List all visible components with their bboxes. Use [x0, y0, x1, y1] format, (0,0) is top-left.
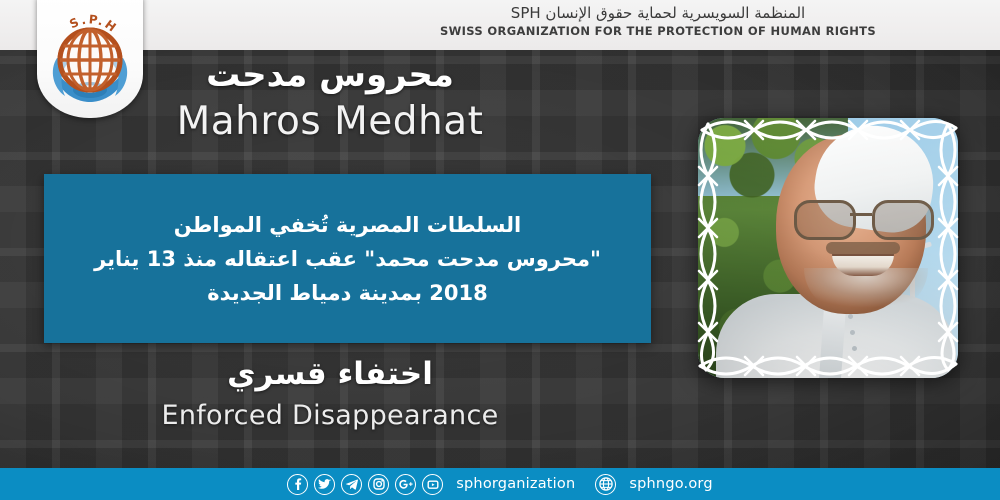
caption-english: Enforced Disappearance [0, 396, 660, 436]
header-titles: المنظمة السويسرية لحماية حقوق الإنسان SP… [338, 2, 978, 39]
org-name-arabic: المنظمة السويسرية لحماية حقوق الإنسان SP… [338, 2, 978, 24]
org-name-english: SWISS ORGANIZATION FOR THE PROTECTION OF… [338, 24, 978, 39]
facebook-icon[interactable] [287, 474, 308, 495]
statement-line-3: 2018 بمدينة دمياط الجديدة [94, 276, 601, 310]
header-bar: المنظمة السويسرية لحماية حقوق الإنسان SP… [0, 0, 1000, 50]
caption-block: اختفاء قسري Enforced Disappearance [0, 352, 660, 436]
statement-line-1: السلطات المصرية تُخفي المواطن [94, 208, 601, 242]
poster-canvas: المنظمة السويسرية لحماية حقوق الإنسان SP… [0, 0, 1000, 500]
victim-portrait [688, 108, 968, 388]
statement-box: السلطات المصرية تُخفي المواطن "محروس مدح… [44, 174, 651, 343]
social-handle[interactable]: sphorganization [456, 476, 575, 492]
footer-social-row: sphorganization sphngo.org [287, 474, 712, 495]
statement-text: السلطات المصرية تُخفي المواطن "محروس مدح… [76, 208, 619, 310]
instagram-icon[interactable] [368, 474, 389, 495]
statement-line-2: "محروس مدحت محمد" عقب اعتقاله منذ 13 ينا… [94, 242, 601, 276]
barbed-wire-frame [688, 108, 968, 388]
website-url[interactable]: sphngo.org [629, 476, 712, 492]
youtube-icon[interactable] [422, 474, 443, 495]
telegram-icon[interactable] [341, 474, 362, 495]
globe-icon[interactable] [595, 474, 616, 495]
caption-arabic: اختفاء قسري [0, 352, 660, 396]
footer-bar: sphorganization sphngo.org [0, 468, 1000, 500]
twitter-icon[interactable] [314, 474, 335, 495]
globe-logo-icon: S.P.H [43, 10, 137, 106]
google-plus-icon[interactable] [395, 474, 416, 495]
logo-card: S.P.H [37, 0, 143, 118]
